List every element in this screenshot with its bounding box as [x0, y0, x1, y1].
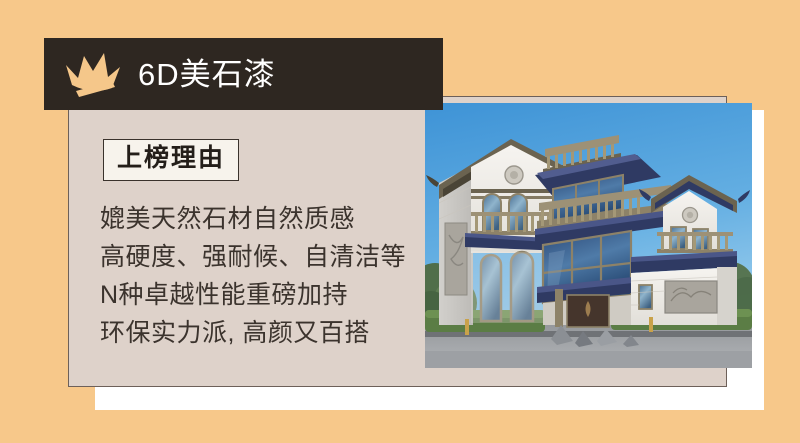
crown-icon — [62, 51, 124, 97]
copy-line-2: 高硬度、强耐候、自清洁等 — [100, 238, 430, 276]
copy-line-4: 环保实力派, 高颜又百搭 — [100, 314, 430, 352]
copy-line-3-text: N种卓越性能重磅加持 — [100, 281, 348, 309]
copy-line-1-post: 质感 — [304, 205, 355, 233]
reason-chip: 上榜理由 — [103, 139, 239, 181]
copy-line-1-highlight: 天然石材自然 — [151, 200, 304, 238]
banner-title: 6D美石漆 — [138, 59, 276, 90]
body-copy: 媲美天然石材自然质感 高硬度、强耐候、自清洁等 N种卓越性能重磅加持 环保实力派… — [100, 200, 430, 352]
villa-photo — [425, 103, 752, 368]
copy-line-1-pre: 媲美 — [100, 205, 151, 233]
copy-line-4-text: 环保实力派, 高颜又百搭 — [100, 319, 370, 347]
copy-line-3: N种卓越性能重磅加持 — [100, 276, 430, 314]
copy-line-1: 媲美天然石材自然质感 — [100, 200, 430, 238]
copy-line-2-highlight: 高硬度、强耐候、自清洁等 — [100, 238, 406, 276]
poster-canvas: 6D美石漆 上榜理由 媲美天然石材自然质感 高硬度、强耐候、自清洁等 N种卓越性… — [0, 0, 800, 443]
title-banner: 6D美石漆 — [44, 38, 443, 110]
